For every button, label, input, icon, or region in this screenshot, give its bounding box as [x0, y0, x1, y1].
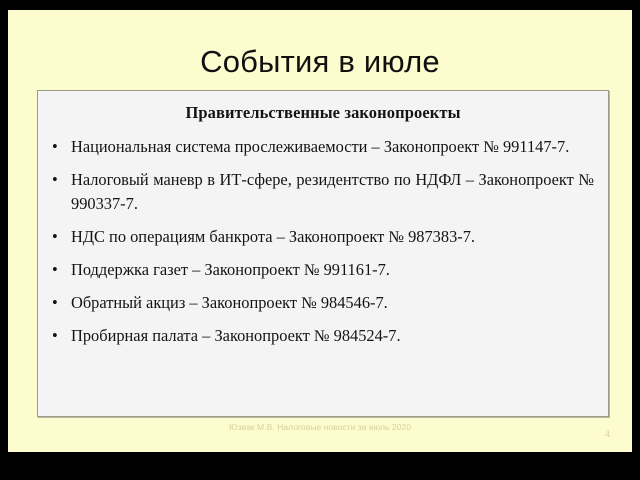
list-item-label: Налоговый маневр в ИТ-сфере, резидентств… [71, 170, 594, 213]
bullet-icon: • [52, 168, 58, 192]
slide-canvas: События в июле Правительственные законоп… [8, 10, 632, 452]
content-box: Правительственные законопроекты •Национа… [37, 90, 609, 417]
list-item: •НДС по операциям банкрота – Законопроек… [38, 225, 608, 249]
list-item-label: Обратный акциз – Законопроект № 984546-7… [71, 293, 388, 312]
bullet-list: •Национальная система прослеживаемости –… [38, 135, 608, 348]
list-item: •Поддержка газет – Законопроект № 991161… [38, 258, 608, 282]
list-item: •Пробирная палата – Законопроект № 98452… [38, 324, 608, 348]
bullet-icon: • [52, 225, 58, 249]
list-item-label: Поддержка газет – Законопроект № 991161-… [71, 260, 390, 279]
list-item-label: Национальная система прослеживаемости – … [71, 137, 569, 156]
list-item: •Национальная система прослеживаемости –… [38, 135, 608, 159]
bullet-icon: • [52, 258, 58, 282]
bullet-icon: • [52, 135, 58, 159]
list-item-label: НДС по операциям банкрота – Законопроект… [71, 227, 475, 246]
page-title: События в июле [8, 46, 632, 79]
footer-credit: Юзвак М.В. Налоговые новости за июль 202… [8, 422, 632, 434]
bullet-icon: • [52, 291, 58, 315]
page-number: 4 [605, 429, 610, 439]
list-item: •Обратный акциз – Законопроект № 984546-… [38, 291, 608, 315]
list-item: •Налоговый маневр в ИТ-сфере, резидентст… [38, 168, 608, 216]
bullet-icon: • [52, 324, 58, 348]
list-item-label: Пробирная палата – Законопроект № 984524… [71, 326, 401, 345]
content-box-header: Правительственные законопроекты [38, 103, 608, 123]
